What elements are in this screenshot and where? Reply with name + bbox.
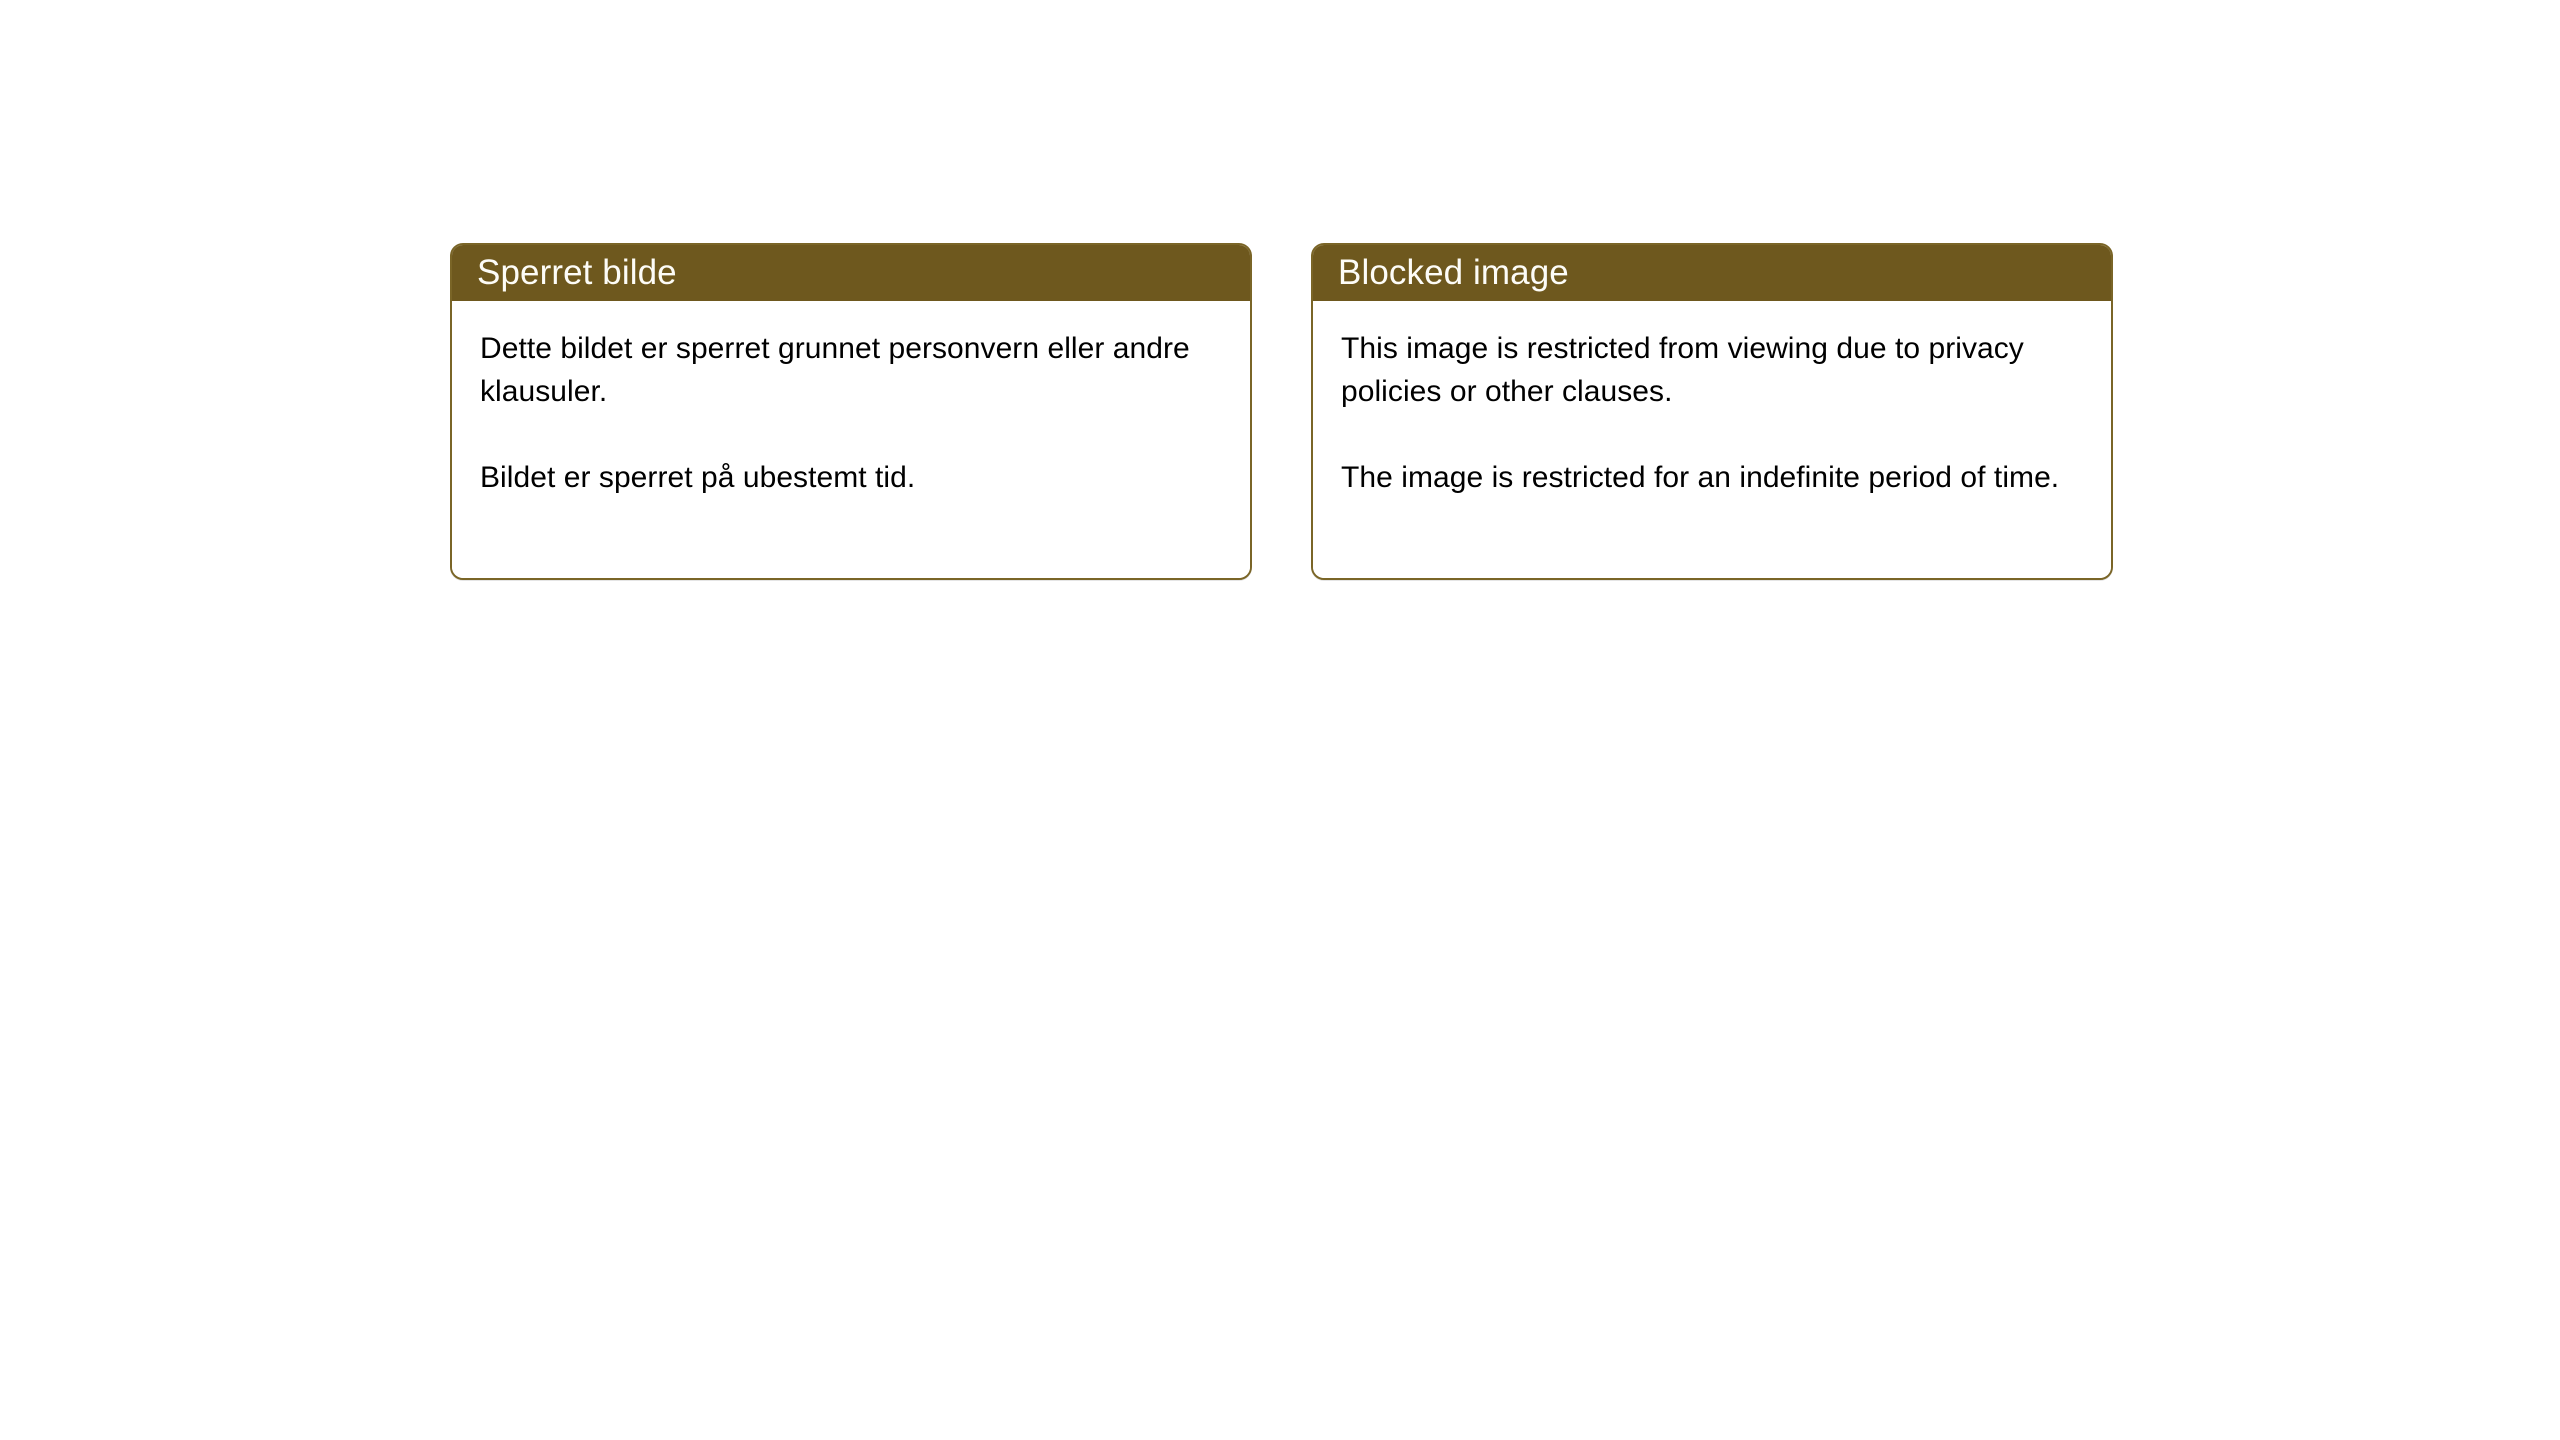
card-paragraph-secondary-en: The image is restricted for an indefinit… <box>1341 456 2085 499</box>
card-body-no: Dette bildet er sperret grunnet personve… <box>452 301 1250 578</box>
card-body-en: This image is restricted from viewing du… <box>1313 301 2111 578</box>
blocked-image-card-no: Sperret bilde Dette bildet er sperret gr… <box>450 243 1252 580</box>
page-root: Sperret bilde Dette bildet er sperret gr… <box>0 0 2560 1440</box>
card-title-en: Blocked image <box>1338 253 1569 293</box>
card-paragraph-primary-en: This image is restricted from viewing du… <box>1341 327 2085 413</box>
card-title-no: Sperret bilde <box>477 253 677 293</box>
card-header-en: Blocked image <box>1313 245 2111 301</box>
card-paragraph-primary-no: Dette bildet er sperret grunnet personve… <box>480 327 1224 413</box>
card-header-no: Sperret bilde <box>452 245 1250 301</box>
card-paragraph-secondary-no: Bildet er sperret på ubestemt tid. <box>480 456 1224 499</box>
blocked-image-card-en: Blocked image This image is restricted f… <box>1311 243 2113 580</box>
